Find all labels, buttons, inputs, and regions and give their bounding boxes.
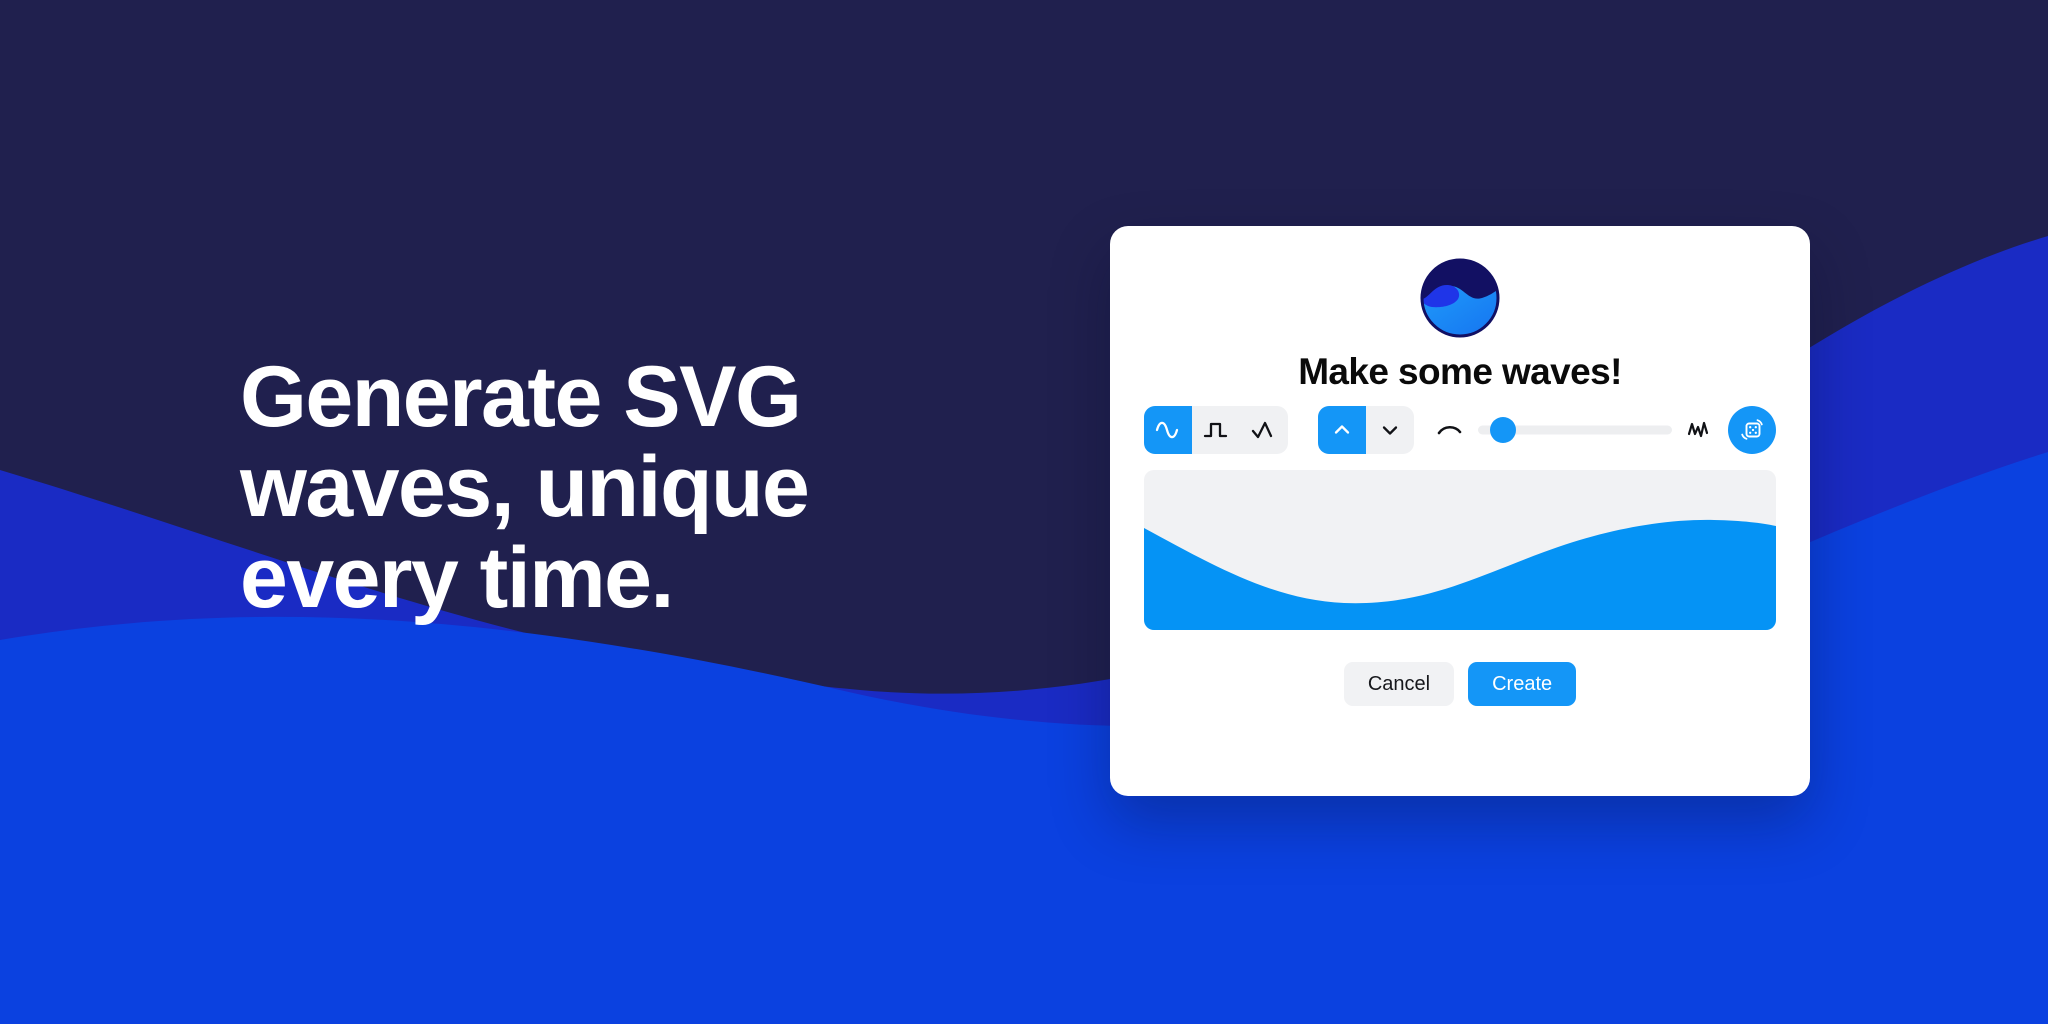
wave-toolbar: [1144, 404, 1776, 456]
preview-wave-path: [1144, 520, 1776, 630]
wave-type-square-button[interactable]: [1192, 406, 1240, 454]
cancel-button[interactable]: Cancel: [1344, 662, 1454, 706]
triangle-wave-icon: [1251, 419, 1277, 441]
wave-generator-dialog: Make some waves!: [1110, 226, 1810, 796]
randomize-button[interactable]: [1728, 406, 1776, 454]
gentle-arc-icon: [1436, 419, 1464, 441]
chevron-down-icon: [1379, 419, 1401, 441]
wave-logo: [1420, 258, 1500, 338]
headline-line-2: waves, unique: [240, 442, 940, 532]
dialog-title: Make some waves!: [1110, 351, 1810, 393]
wave-type-triangle-button[interactable]: [1240, 406, 1288, 454]
dice-shuffle-icon: [1738, 415, 1766, 446]
wave-preview: [1144, 470, 1776, 630]
create-button[interactable]: Create: [1468, 662, 1576, 706]
page-title: Generate SVG waves, unique every time.: [240, 352, 940, 623]
wave-type-sine-button[interactable]: [1144, 406, 1192, 454]
wave-complexity-slider[interactable]: [1478, 406, 1672, 454]
wave-type-toggle-group[interactable]: [1144, 406, 1288, 454]
wave-direction-up-button[interactable]: [1318, 406, 1366, 454]
hero-banner: Generate SVG waves, unique every time.: [0, 0, 2048, 1024]
sine-wave-icon: [1155, 419, 1181, 441]
wave-direction-down-button[interactable]: [1366, 406, 1414, 454]
chevron-up-icon: [1331, 419, 1353, 441]
headline-line-1: Generate SVG: [240, 352, 940, 442]
jagged-wave-icon: [1686, 418, 1714, 442]
slider-thumb[interactable]: [1490, 417, 1516, 443]
square-wave-icon: [1203, 419, 1229, 441]
headline-line-3: every time.: [240, 533, 940, 623]
dialog-actions: Cancel Create: [1110, 662, 1810, 706]
wave-direction-toggle-group[interactable]: [1318, 406, 1414, 454]
